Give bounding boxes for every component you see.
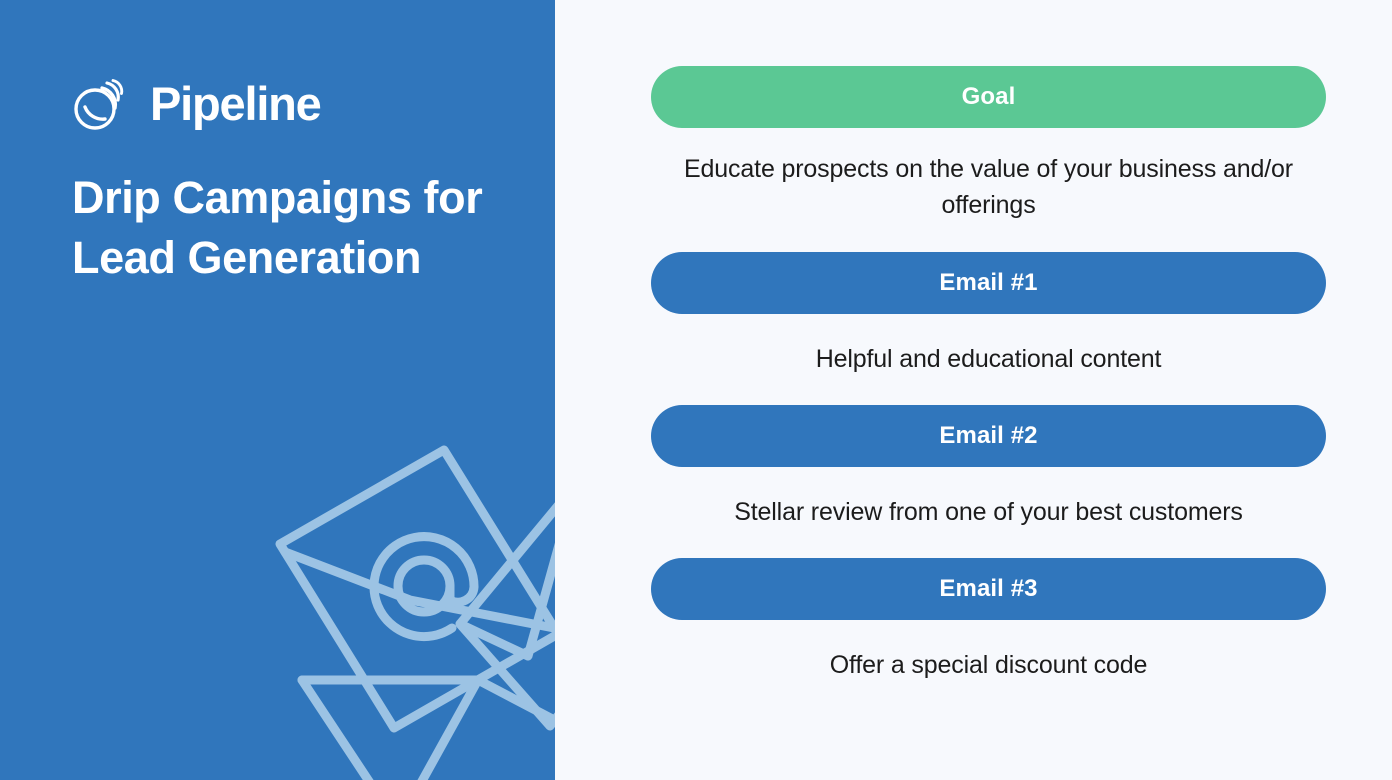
- brand-lockup: Pipeline: [72, 74, 321, 132]
- flow-pill-email-1[interactable]: Email #1: [651, 252, 1326, 314]
- slide-root: Pipeline Drip Campaigns for Lead Generat…: [0, 0, 1392, 780]
- spacer: [651, 314, 1326, 341]
- page-title: Drip Campaigns for Lead Generation: [72, 168, 512, 288]
- flow-caption-goal: Educate prospects on the value of your b…: [651, 151, 1326, 224]
- pipeline-swirl-icon: [72, 74, 130, 132]
- flow-pill-label: Email #2: [939, 422, 1037, 450]
- spacer: [651, 224, 1326, 252]
- brand-name: Pipeline: [150, 80, 321, 127]
- flow-caption-email-3: Offer a special discount code: [651, 647, 1326, 683]
- flow-caption-email-2: Stellar review from one of your best cus…: [651, 494, 1326, 530]
- spacer: [651, 128, 1326, 151]
- right-panel: Goal Educate prospects on the value of y…: [555, 0, 1392, 780]
- flow-pill-goal[interactable]: Goal: [651, 66, 1326, 128]
- flow-caption-email-1: Helpful and educational content: [651, 341, 1326, 377]
- spacer: [651, 467, 1326, 494]
- left-panel: Pipeline Drip Campaigns for Lead Generat…: [0, 0, 555, 780]
- spacer: [651, 620, 1326, 647]
- drip-campaign-flow: Goal Educate prospects on the value of y…: [651, 66, 1326, 683]
- spacer: [651, 377, 1326, 405]
- flow-pill-label: Email #1: [939, 269, 1037, 297]
- flow-pill-label: Goal: [962, 83, 1016, 111]
- spacer: [651, 530, 1326, 558]
- flow-pill-email-3[interactable]: Email #3: [651, 558, 1326, 620]
- flow-pill-label: Email #3: [939, 575, 1037, 603]
- flow-pill-email-2[interactable]: Email #2: [651, 405, 1326, 467]
